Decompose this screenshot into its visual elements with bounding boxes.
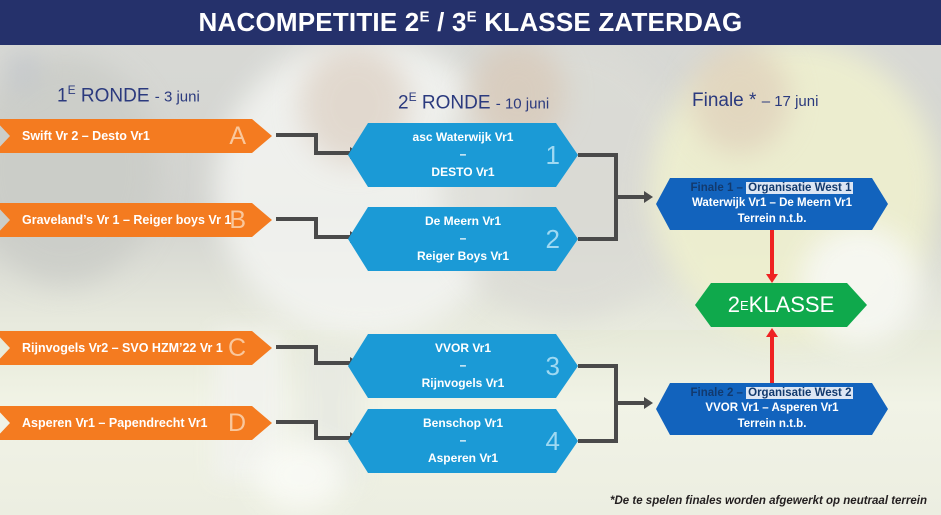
round2-match-2-dash: – xyxy=(460,230,467,247)
final-1-teams: Waterwijk Vr1 – De Meern Vr1 xyxy=(692,196,852,211)
title-tail: KLASSE ZATERDAG xyxy=(477,7,743,37)
promotion-arrow-bottom-head xyxy=(766,328,778,337)
promotion-sup: E xyxy=(740,298,749,313)
final-2-line1: Finale 2 – Organisatie West 2 xyxy=(691,386,854,401)
connector-c-to-3-h1 xyxy=(276,345,318,349)
connector-a-to-1-h1 xyxy=(276,133,318,137)
final-2-prefix: Finale 2 – xyxy=(691,387,747,399)
round2-match-3-dash: – xyxy=(460,357,467,374)
round2-match-3-text: VVOR Vr1 – Rijnvogels Vr1 xyxy=(368,334,558,398)
connector-d-to-4-h1 xyxy=(276,420,318,424)
connector-4-to-final2-h xyxy=(578,439,618,443)
title-mid: / 3 xyxy=(430,7,467,37)
round2-match-1-text: asc Waterwijk Vr1 – DESTO Vr1 xyxy=(368,123,558,187)
round-2-date: - 10 juni xyxy=(496,95,549,112)
connector-d-to-4-h2 xyxy=(314,436,352,440)
round1-match-d-label: Asperen Vr1 – Papendrecht Vr1 xyxy=(22,406,208,440)
round2-match-1-away: DESTO Vr1 xyxy=(431,164,494,181)
page-title: NACOMPETITIE 2E / 3E KLASSE ZATERDAG xyxy=(199,7,743,38)
round2-match-2[interactable]: De Meern Vr1 – Reiger Boys Vr1 2 xyxy=(348,207,578,271)
final-1[interactable]: Finale 1 – Organisatie West 1 Waterwijk … xyxy=(656,178,888,230)
final-1-text: Finale 1 – Organisatie West 1 Waterwijk … xyxy=(668,178,876,230)
final-1-prefix: Finale 1 – xyxy=(691,182,747,194)
round-heading-final: Finale * – 17 juni xyxy=(692,90,818,112)
promotion-ordinal: 2 xyxy=(728,292,740,318)
round2-match-4-home: Benschop Vr1 xyxy=(423,415,503,432)
final-2-text: Finale 2 – Organisatie West 2 VVOR Vr1 –… xyxy=(668,383,876,435)
round1-match-b-letter: B xyxy=(229,203,246,237)
connector-a-to-1-h2 xyxy=(314,151,352,155)
promotion-word: KLASSE xyxy=(749,292,835,318)
round2-match-3-home: VVOR Vr1 xyxy=(435,340,491,357)
round2-match-3-away: Rijnvogels Vr1 xyxy=(422,375,505,392)
round2-match-2-away: Reiger Boys Vr1 xyxy=(417,248,509,265)
connector-final1-stem xyxy=(614,195,646,199)
round1-match-c-label: Rijnvogels Vr2 – SVO HZM’22 Vr 1 xyxy=(22,331,223,365)
round1-match-b-label: Graveland’s Vr 1 – Reiger boys Vr 1 xyxy=(22,203,231,237)
round1-match-a-label: Swift Vr 2 – Desto Vr1 xyxy=(22,119,150,153)
round-1-sup: E xyxy=(68,83,76,97)
final-1-line1: Finale 1 – Organisatie West 1 xyxy=(691,181,854,196)
round-2-sup: E xyxy=(409,90,417,104)
final-2-venue: Terrein n.t.b. xyxy=(738,417,807,432)
connector-1-to-final1-h xyxy=(578,153,618,157)
round2-match-2-number: 2 xyxy=(546,207,560,271)
round-2-word: RONDE xyxy=(417,92,496,113)
connector-c-to-3-h2 xyxy=(314,361,352,365)
round2-match-4-dash: – xyxy=(460,432,467,449)
connector-final2-stem xyxy=(614,401,646,405)
connector-2-to-final1-h xyxy=(578,237,618,241)
round1-match-a[interactable]: Swift Vr 2 – Desto Vr1 A xyxy=(0,119,272,153)
promotion-arrow-top-head xyxy=(766,274,778,283)
round2-match-4-text: Benschop Vr1 – Asperen Vr1 xyxy=(368,409,558,473)
connector-b-to-2-h2 xyxy=(314,235,352,239)
round-heading-2: 2E RONDE - 10 juni xyxy=(398,90,549,114)
title-sup-1: E xyxy=(419,8,429,25)
round2-match-4[interactable]: Benschop Vr1 – Asperen Vr1 4 xyxy=(348,409,578,473)
round1-match-c-letter: C xyxy=(228,331,246,365)
round-final-word: Finale * xyxy=(692,90,762,111)
round-2-ordinal: 2 xyxy=(398,92,409,113)
round1-match-d-letter: D xyxy=(228,406,246,440)
round1-match-a-letter: A xyxy=(229,119,246,153)
connector-3-to-final2-h xyxy=(578,364,618,368)
promotion-banner[interactable]: 2E KLASSE xyxy=(695,283,867,327)
round2-match-3-number: 3 xyxy=(546,334,560,398)
title-bar: NACOMPETITIE 2E / 3E KLASSE ZATERDAG xyxy=(0,0,941,45)
promotion-arrow-top-line xyxy=(770,230,774,276)
round2-match-1-dash: – xyxy=(460,146,467,163)
round2-match-2-text: De Meern Vr1 – Reiger Boys Vr1 xyxy=(368,207,558,271)
round1-match-d[interactable]: Asperen Vr1 – Papendrecht Vr1 D xyxy=(0,406,272,440)
final-1-venue: Terrein n.t.b. xyxy=(738,212,807,227)
final-2[interactable]: Finale 2 – Organisatie West 2 VVOR Vr1 –… xyxy=(656,383,888,435)
round2-match-1[interactable]: asc Waterwijk Vr1 – DESTO Vr1 1 xyxy=(348,123,578,187)
bracket-poster: NACOMPETITIE 2E / 3E KLASSE ZATERDAG 1E … xyxy=(0,0,941,515)
round2-match-4-away: Asperen Vr1 xyxy=(428,450,498,467)
photo-crest xyxy=(6,52,40,94)
round2-match-4-number: 4 xyxy=(546,409,560,473)
round-1-word: RONDE xyxy=(76,85,155,106)
title-sup-2: E xyxy=(467,8,477,25)
round-final-date: – 17 juni xyxy=(762,93,819,110)
promotion-banner-label: 2E KLASSE xyxy=(695,283,867,327)
title-main: NACOMPETITIE 2 xyxy=(199,7,420,37)
photo-sock xyxy=(255,440,345,510)
round2-match-1-number: 1 xyxy=(546,123,560,187)
final-2-teams: VVOR Vr1 – Asperen Vr1 xyxy=(705,401,838,416)
connector-b-to-2-h1 xyxy=(276,217,318,221)
round-1-date: - 3 juni xyxy=(155,88,200,105)
footnote: *De te spelen finales worden afgewerkt o… xyxy=(610,495,927,507)
final-2-organisation: Organisatie West 2 xyxy=(746,387,853,399)
connector-final1-arrow xyxy=(644,191,653,203)
promotion-arrow-bottom-line xyxy=(770,336,774,383)
round1-match-c[interactable]: Rijnvogels Vr2 – SVO HZM’22 Vr 1 C xyxy=(0,331,272,365)
round2-match-2-home: De Meern Vr1 xyxy=(425,213,501,230)
connector-final2-arrow xyxy=(644,397,653,409)
round-heading-1: 1E RONDE - 3 juni xyxy=(57,83,200,107)
round1-match-b[interactable]: Graveland’s Vr 1 – Reiger boys Vr 1 B xyxy=(0,203,272,237)
round-1-ordinal: 1 xyxy=(57,85,68,106)
final-1-organisation: Organisatie West 1 xyxy=(746,182,853,194)
round2-match-3[interactable]: VVOR Vr1 – Rijnvogels Vr1 3 xyxy=(348,334,578,398)
round2-match-1-home: asc Waterwijk Vr1 xyxy=(413,129,514,146)
